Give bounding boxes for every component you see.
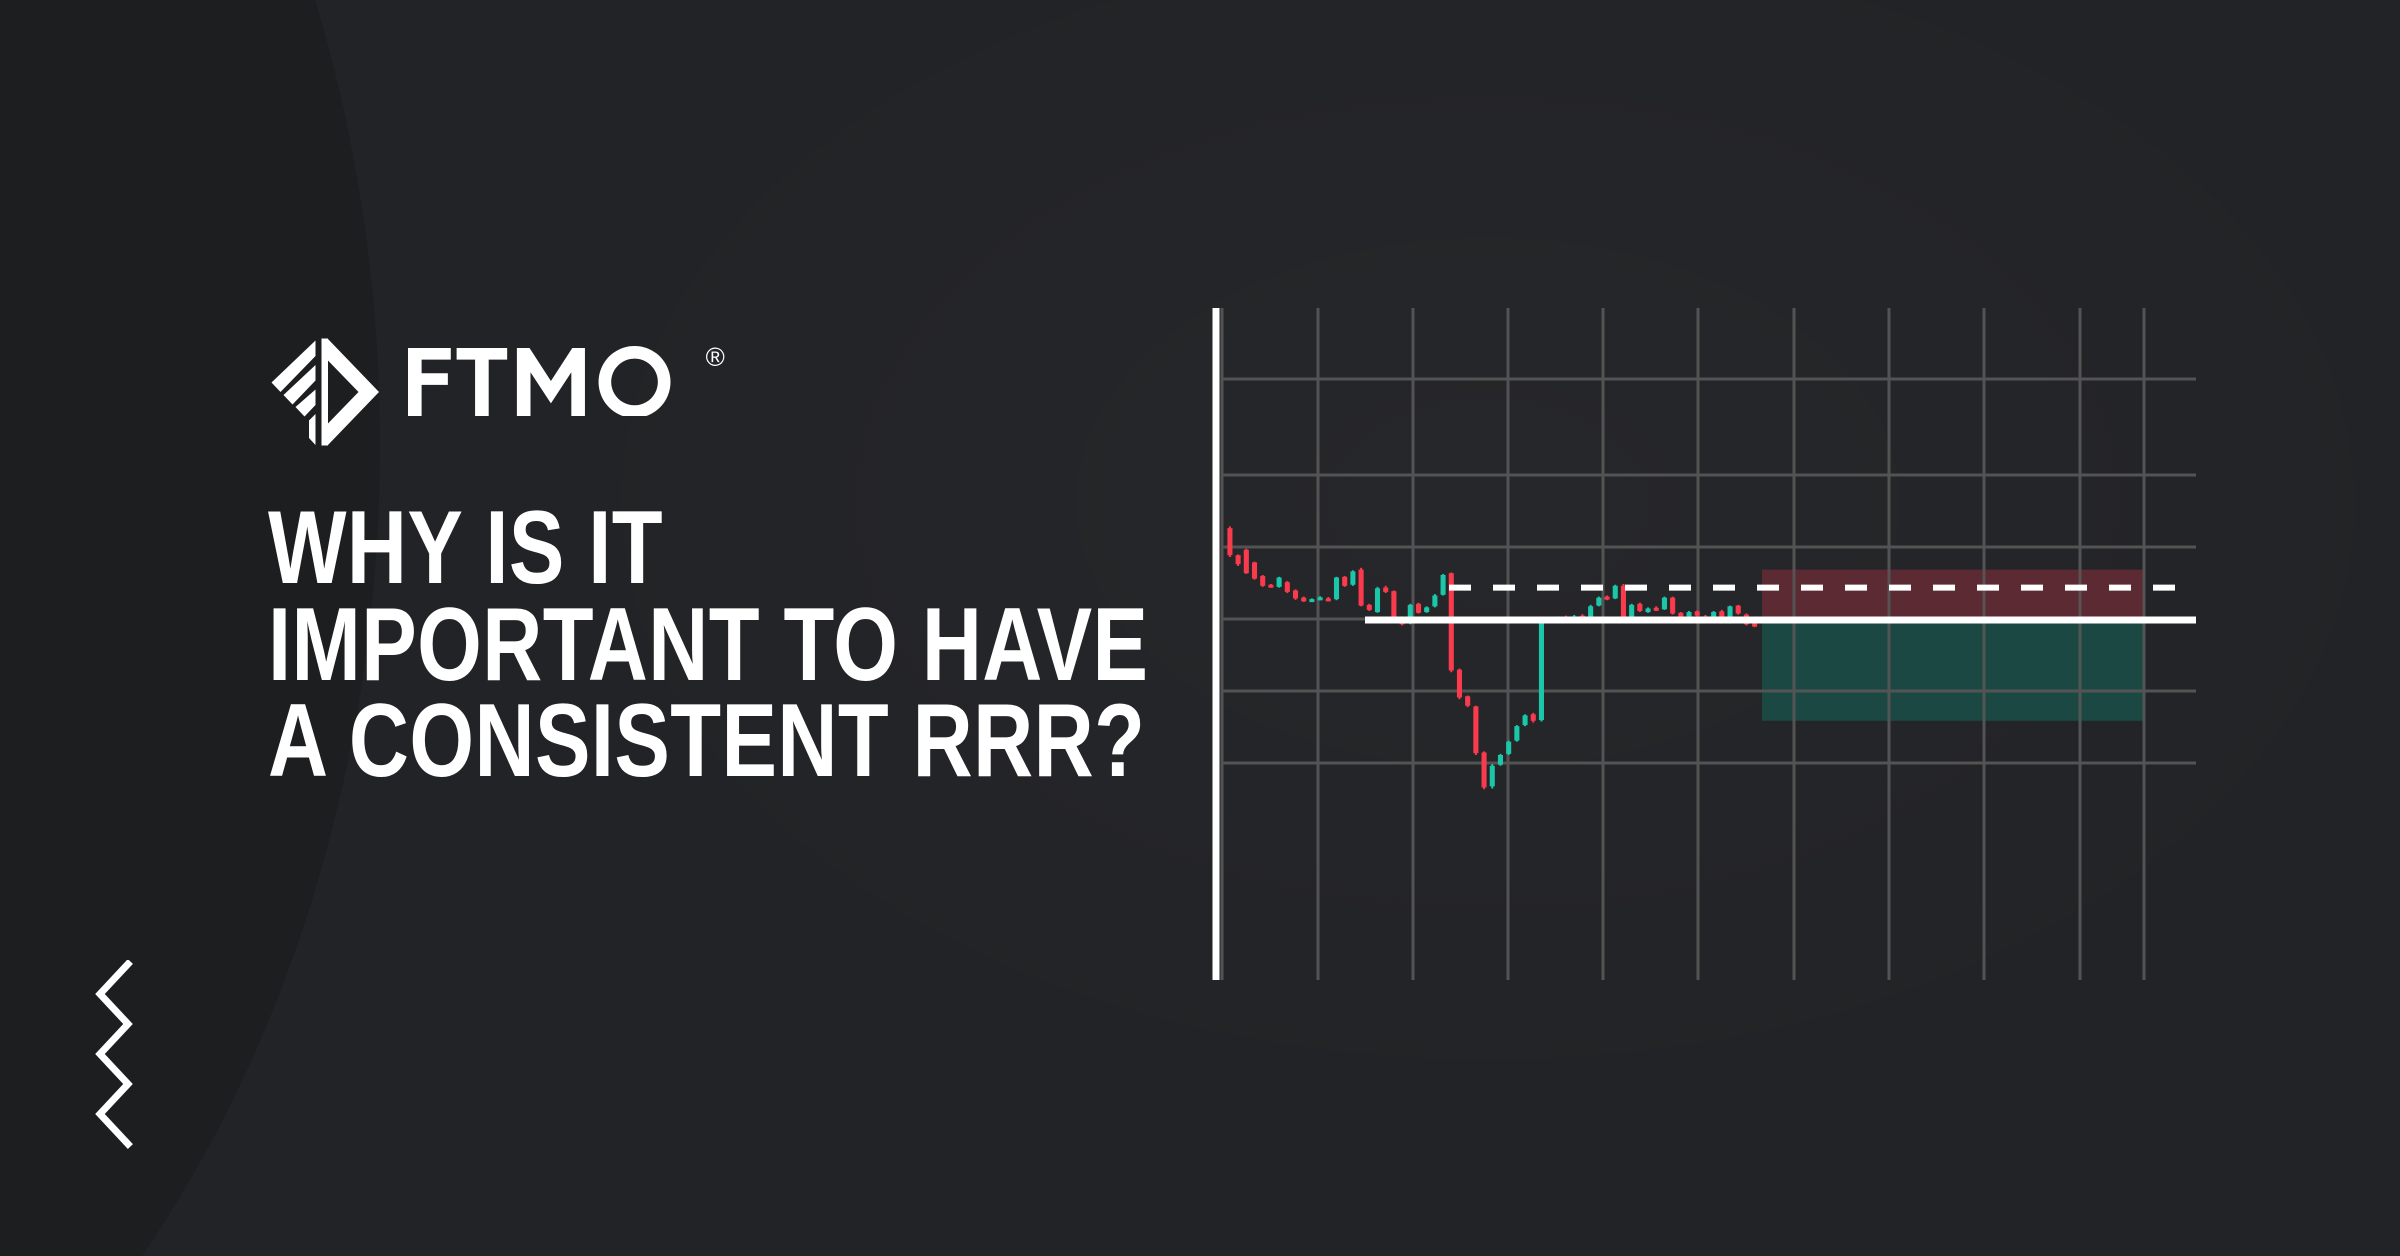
candle-body <box>1268 585 1273 588</box>
candle-body <box>1252 562 1257 578</box>
poster-canvas: ® WHY IS IT IMPORTANT TO HAVE A CONSISTE… <box>0 0 2400 1256</box>
candle-body <box>1293 590 1298 598</box>
candle-body <box>1326 598 1331 601</box>
ftmo-diamond-icon <box>268 336 382 448</box>
candle-body <box>1654 608 1659 611</box>
candle-body <box>1621 586 1626 621</box>
candle-body <box>1334 578 1339 600</box>
candle-body <box>1244 550 1249 573</box>
candle-body <box>1645 608 1650 612</box>
candle-body <box>1670 598 1675 614</box>
candle-body <box>1736 606 1741 614</box>
candlestick-chart <box>1205 300 2215 980</box>
candle-body <box>1342 577 1347 586</box>
candle-body <box>1482 752 1487 787</box>
candle-body <box>1260 576 1265 586</box>
candle-body <box>1752 624 1757 627</box>
ftmo-wordmark-letters <box>408 346 700 416</box>
candle-body <box>1383 588 1388 592</box>
candle-body <box>1498 755 1503 765</box>
candle-body <box>1605 597 1610 600</box>
ftmo-wordmark: ® <box>408 346 725 416</box>
candle-body <box>1424 607 1429 612</box>
zigzag-line-icon <box>88 960 140 1160</box>
candle-body <box>1506 742 1511 754</box>
candle-body <box>1596 598 1601 606</box>
candle-body <box>1465 696 1470 705</box>
candle-body <box>1227 528 1232 555</box>
candle-body <box>1695 611 1700 615</box>
candle-body <box>1416 604 1421 613</box>
candle-body <box>1350 571 1355 584</box>
headline-line-3: A CONSISTENT RRR? <box>268 693 988 790</box>
candle-body <box>1277 578 1282 587</box>
candle-body <box>1285 582 1290 592</box>
candle-body <box>1490 766 1495 787</box>
headline-line-2: IMPORTANT TO HAVE <box>268 597 988 694</box>
candle-body <box>1473 706 1478 753</box>
candle-body <box>1637 604 1642 611</box>
candle-body <box>1375 588 1380 612</box>
candle-body <box>1301 598 1306 602</box>
candle-body <box>1588 606 1593 618</box>
candle-body <box>1391 591 1396 618</box>
candle-body <box>1367 605 1372 610</box>
headline-line-1: WHY IS IT <box>268 500 988 597</box>
candle-body <box>1686 612 1691 616</box>
candle-series <box>1227 526 1757 789</box>
ftmo-logo[interactable]: ® <box>268 336 725 448</box>
chart-canvas <box>1205 300 2215 980</box>
candle-body <box>1662 598 1667 610</box>
candle-body <box>1432 596 1437 607</box>
registered-mark: ® <box>706 344 725 370</box>
candle-body <box>1309 599 1314 602</box>
candle-body <box>1613 586 1618 599</box>
reward-zone-rect <box>1762 620 2144 721</box>
risk-reward-zones <box>1762 570 2144 721</box>
risk-zone-rect <box>1762 570 2144 620</box>
candle-body <box>1359 570 1364 606</box>
candle-body <box>1514 726 1519 740</box>
candle-body <box>1539 623 1544 720</box>
candle-body <box>1318 597 1323 600</box>
candle-body <box>1531 714 1536 720</box>
candle-body <box>1523 715 1528 725</box>
candle-body <box>1236 555 1241 564</box>
page-title: WHY IS IT IMPORTANT TO HAVE A CONSISTENT… <box>268 500 988 790</box>
candle-body <box>1678 613 1683 617</box>
candle-body <box>1457 670 1462 698</box>
candle-body <box>1441 575 1446 595</box>
